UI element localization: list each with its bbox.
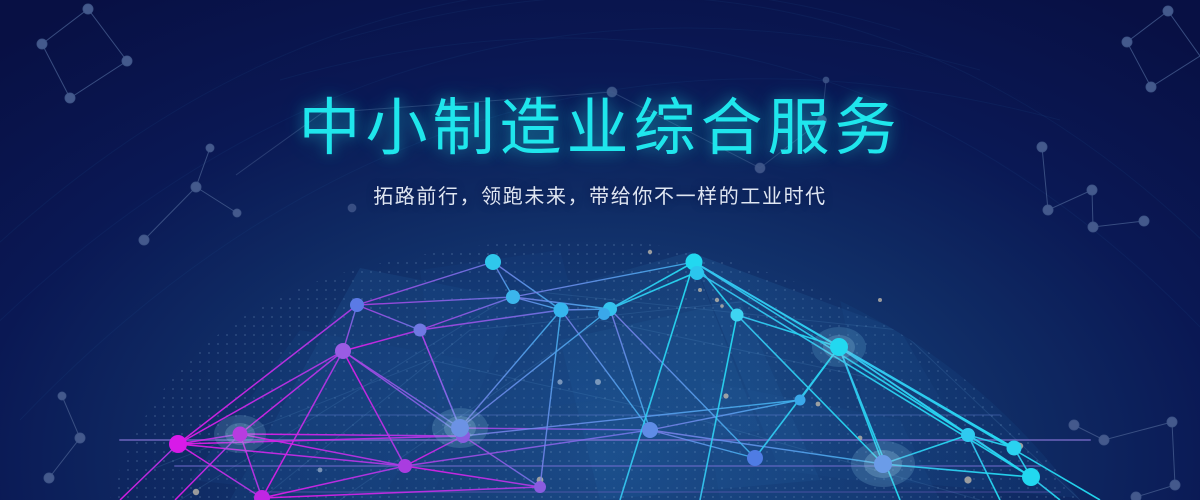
dome-network-graphic [0,0,1200,500]
node-halos [214,327,915,487]
hero-banner: 中小制造业综合服务 拓路前行，领跑未来，带给你不一样的工业时代 [0,0,1200,500]
